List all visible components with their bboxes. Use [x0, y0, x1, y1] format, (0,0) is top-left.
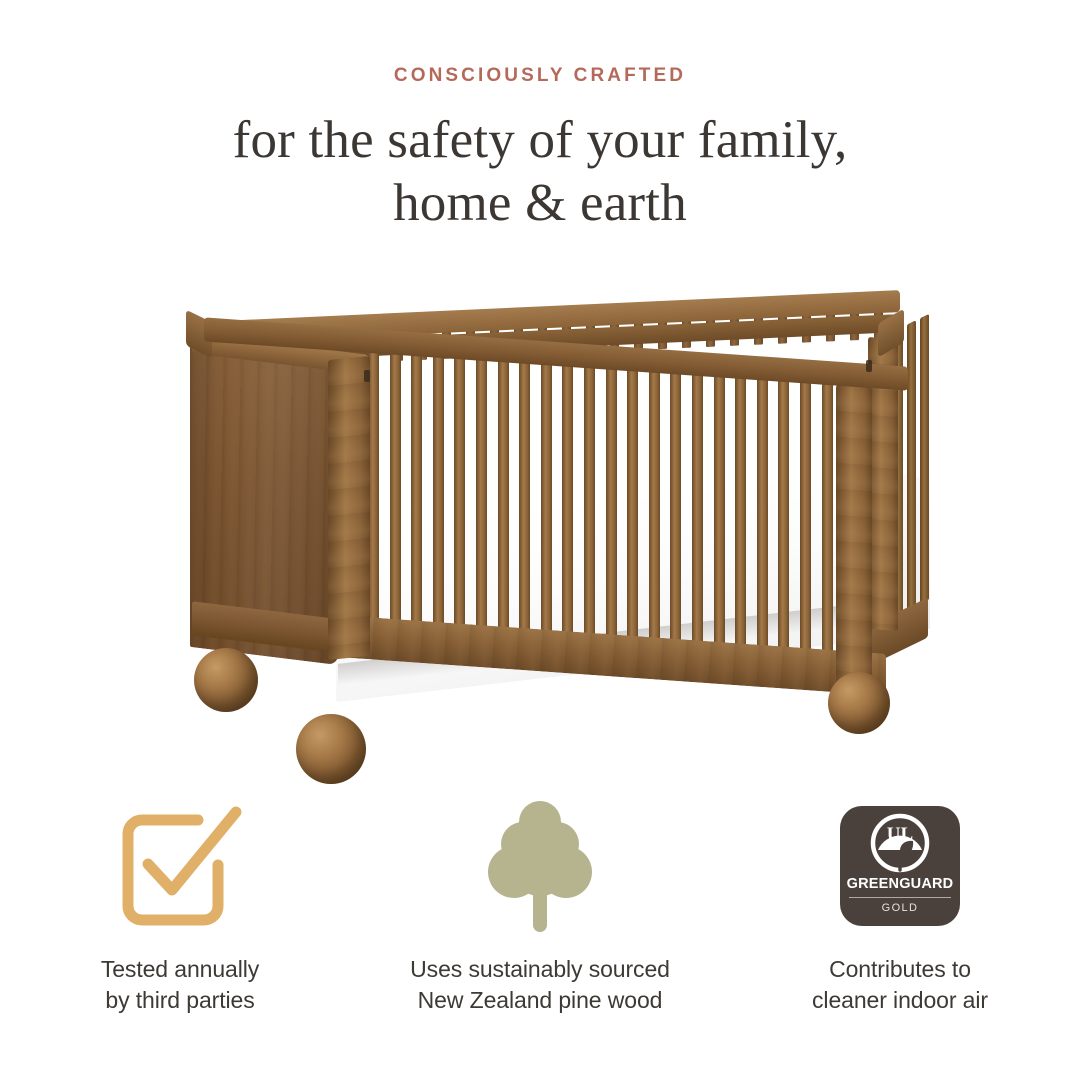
greenguard-gold-badge-icon: UL GREENGUARD GOLD	[840, 800, 960, 932]
greenguard-title: GREENGUARD	[840, 876, 960, 892]
crib-post-front-left	[328, 356, 370, 660]
greenguard-tier: GOLD	[840, 902, 960, 914]
feature-caption-greenguard: Contributes to cleaner indoor air	[812, 954, 988, 1016]
eyebrow-text: CONSCIOUSLY CRAFTED	[0, 66, 1080, 85]
crib-hardware-bracket	[866, 360, 872, 372]
page-title: for the safety of your family, home & ea…	[0, 109, 1080, 234]
crib-illustration	[178, 282, 898, 772]
tree-icon	[488, 800, 592, 932]
caption-line-1: Contributes to	[812, 954, 988, 985]
feature-caption-sustainable-wood: Uses sustainably sourced New Zealand pin…	[410, 954, 670, 1016]
headline-line-1: for the safety of your family,	[0, 109, 1080, 172]
caption-line-2: by third parties	[101, 985, 259, 1016]
header: CONSCIOUSLY CRAFTED for the safety of yo…	[0, 0, 1080, 234]
headline-line-2: home & earth	[0, 172, 1080, 235]
checkbox-check-icon	[114, 800, 246, 932]
greenguard-badge: UL GREENGUARD GOLD	[840, 806, 960, 926]
greenguard-divider	[849, 897, 951, 898]
crib-hardware-bracket	[364, 370, 370, 382]
crib-post-front-right	[836, 385, 872, 688]
crib-foot-right	[828, 672, 890, 734]
caption-line-1: Tested annually	[101, 954, 259, 985]
feature-item-greenguard: UL GREENGUARD GOLD Contributes to cleane…	[720, 800, 1080, 1016]
caption-line-2: New Zealand pine wood	[410, 985, 670, 1016]
caption-line-1: Uses sustainably sourced	[410, 954, 670, 985]
feature-caption-tested: Tested annually by third parties	[101, 954, 259, 1016]
feature-list: Tested annually by third parties Uses su…	[0, 800, 1080, 1016]
crib-foot-front-left	[296, 714, 366, 784]
feature-item-tested: Tested annually by third parties	[0, 800, 360, 1016]
crib-foot-back-left	[194, 648, 258, 712]
caption-line-2: cleaner indoor air	[812, 985, 988, 1016]
ul-mark-icon: UL	[840, 810, 960, 876]
product-image	[0, 270, 1080, 780]
feature-item-sustainable-wood: Uses sustainably sourced New Zealand pin…	[360, 800, 720, 1016]
